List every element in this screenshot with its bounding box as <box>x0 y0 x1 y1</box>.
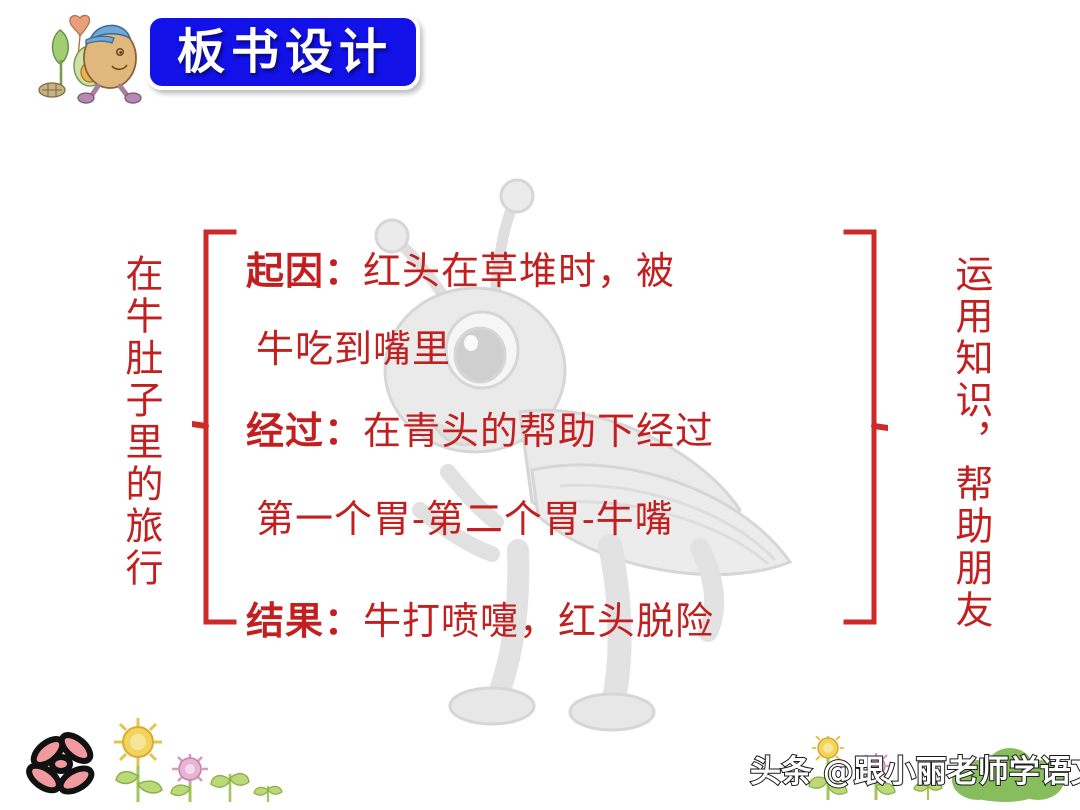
right-vertical-note: 运用知识，帮助朋友 <box>930 228 992 658</box>
title-badge: 板书设计 <box>146 14 420 90</box>
outline-text-process-line1: 在青头的帮助下经过 <box>363 409 714 453</box>
outline-item-process-line1: 经过：在青头的帮助下经过 <box>246 412 714 450</box>
title-badge-label: 板书设计 <box>173 28 393 76</box>
outline-text-result-line1: 牛打喷嚏，红头脱险 <box>363 599 714 643</box>
outline-label-process: 经过： <box>246 408 363 453</box>
watermark: 头条 @跟小丽老师学语文 <box>742 736 1080 802</box>
outline-item-result-line1: 结果：牛打喷嚏，红头脱险 <box>246 602 714 640</box>
outline-item-cause-line2: 牛吃到嘴里 <box>256 330 451 368</box>
left-vertical-title: 在牛肚子里的旅行 <box>100 222 162 622</box>
left-square-bracket <box>192 228 238 626</box>
outline-item-process-line2: 第一个胃-第二个胃-牛嘴 <box>256 500 674 538</box>
flowers-and-sprouts-decoration <box>14 718 294 804</box>
walking-egg-character-icon <box>28 8 146 104</box>
outline-label-result: 结果： <box>246 598 363 643</box>
outline-text-process-line2: 第一个胃-第二个胃-牛嘴 <box>256 497 674 541</box>
watermark-text: 头条 @跟小丽老师学语文 <box>750 746 1080 791</box>
outline-label-cause: 起因： <box>246 248 363 293</box>
header-area: 板书设计 <box>0 0 1080 110</box>
outline-text-cause-line2: 牛吃到嘴里 <box>256 327 451 371</box>
outline-item-cause-line1: 起因：红头在草堆时，被 <box>246 252 675 290</box>
outline-text-cause-line1: 红头在草堆时，被 <box>363 249 675 293</box>
right-square-bracket <box>842 228 888 626</box>
